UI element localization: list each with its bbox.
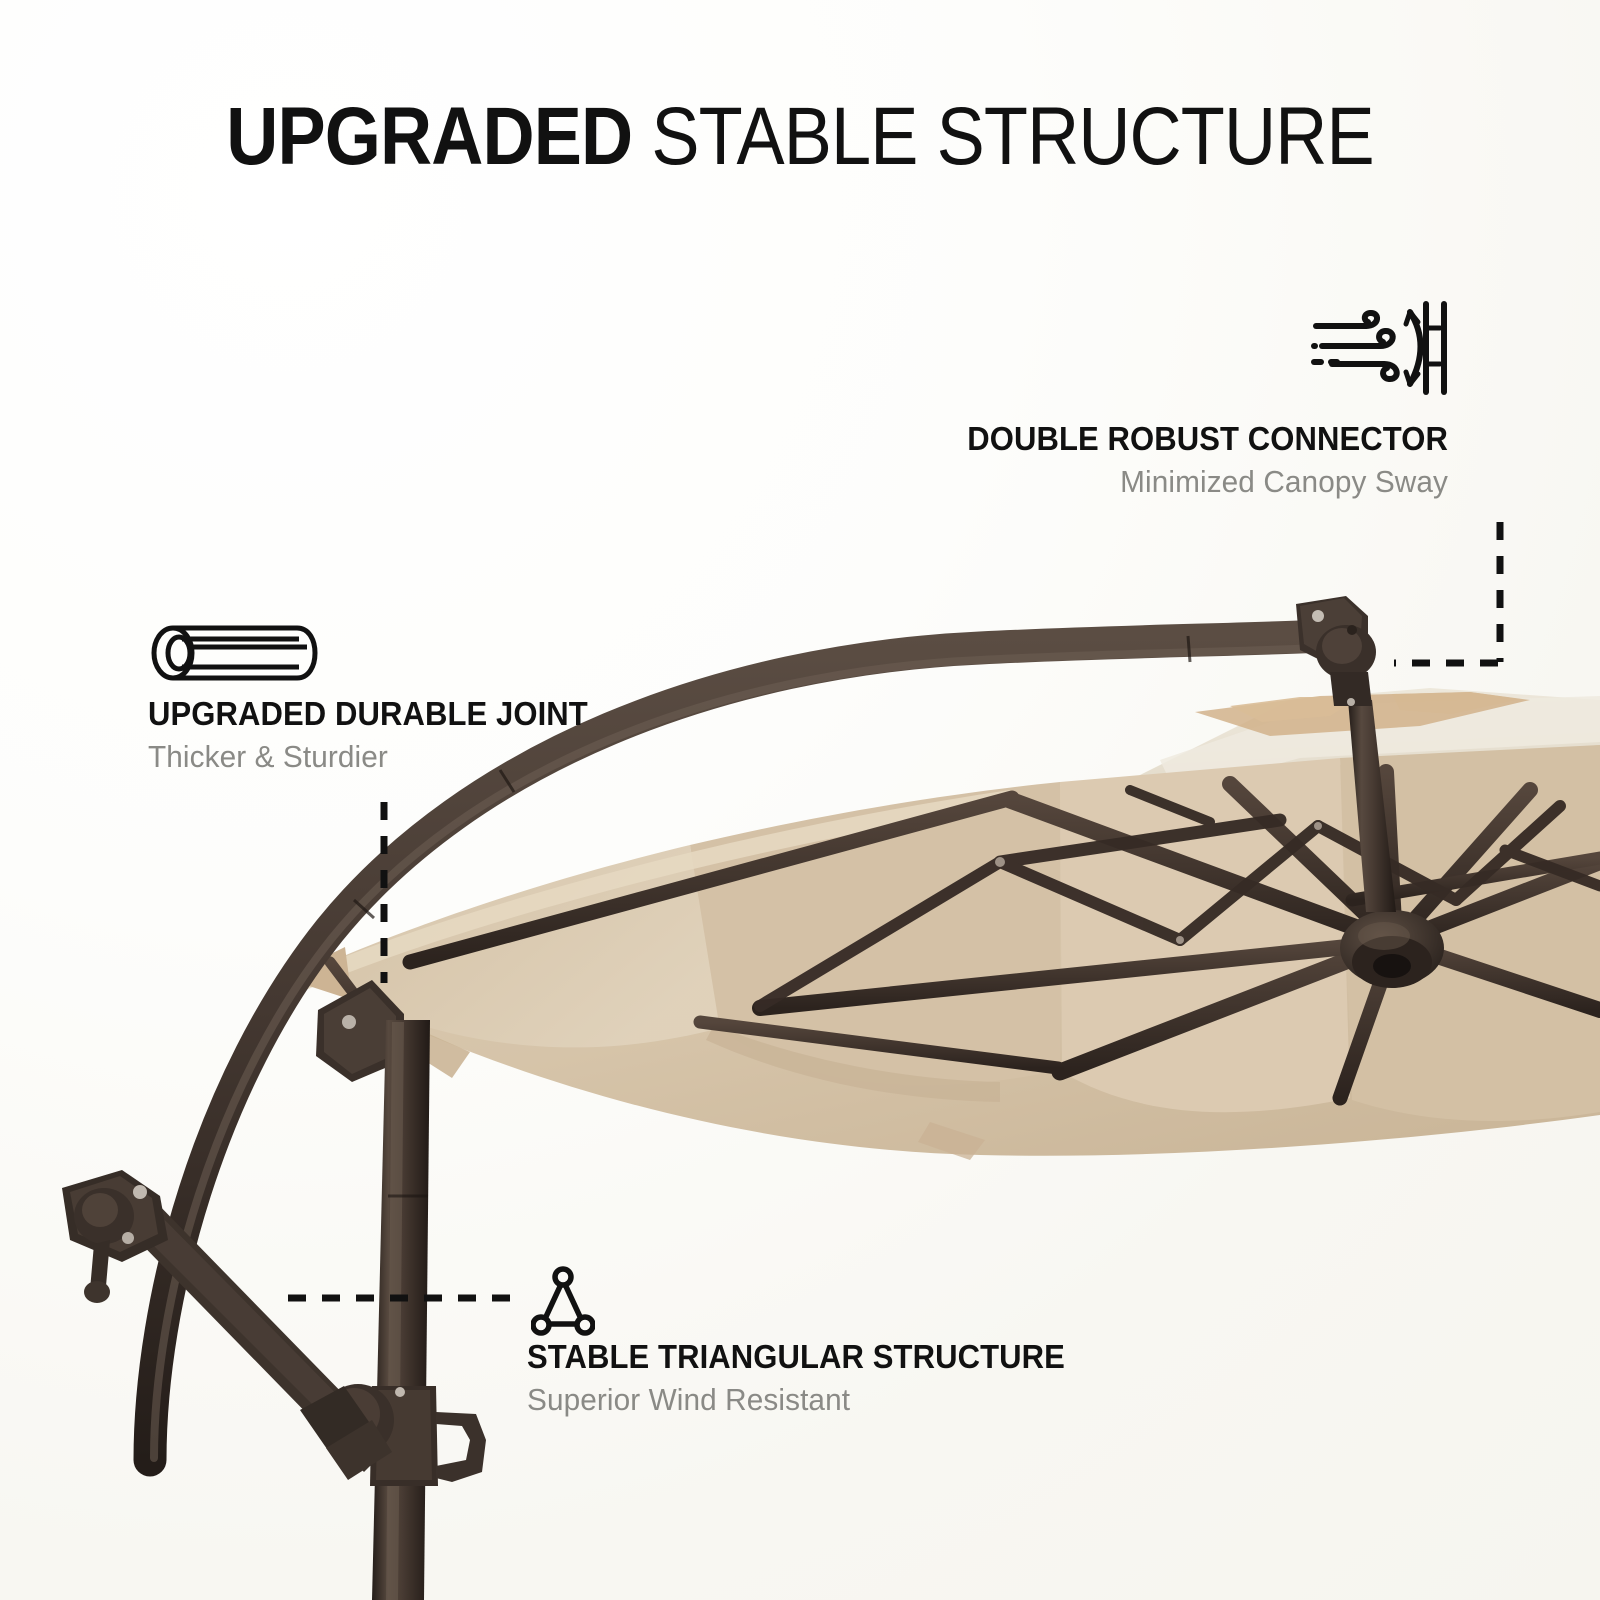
- feature-heading: DOUBLE ROBUST CONNECTOR: [745, 420, 1448, 458]
- leader-line-triangle: [286, 1290, 526, 1300]
- page-title-rest: STABLE STRUCTURE: [632, 91, 1373, 182]
- triangle-nodes-icon: [531, 1266, 595, 1338]
- feature-subheading: Minimized Canopy Sway: [730, 464, 1448, 501]
- tube-thickness-icon: [147, 622, 322, 684]
- infographic-canvas: UPGRADED STABLE STRUCTURE: [0, 0, 1600, 1600]
- left-hinge-assembly: [62, 1170, 168, 1303]
- feature-subheading: Thicker & Sturdier: [148, 739, 743, 776]
- feature-double-robust-connector: DOUBLE ROBUST CONNECTOR Minimized Canopy…: [700, 420, 1448, 500]
- feature-heading: STABLE TRIANGULAR STRUCTURE: [527, 1338, 1110, 1376]
- page-title: UPGRADED STABLE STRUCTURE: [96, 96, 1504, 178]
- double-robust-connector-part: [1296, 596, 1376, 706]
- feature-stable-triangular-structure: STABLE TRIANGULAR STRUCTURE Superior Win…: [527, 1338, 1147, 1418]
- page-title-emphasis: UPGRADED: [226, 91, 632, 182]
- leader-line-joint: [378, 800, 390, 985]
- wind-resistance-icon: [1306, 300, 1451, 395]
- feature-subheading: Superior Wind Resistant: [527, 1382, 1122, 1419]
- crank-mechanism: [300, 1384, 486, 1486]
- feature-heading: UPGRADED DURABLE JOINT: [148, 695, 731, 733]
- leader-line-connector: [1390, 520, 1510, 670]
- feature-upgraded-durable-joint: UPGRADED DURABLE JOINT Thicker & Sturdie…: [148, 695, 768, 775]
